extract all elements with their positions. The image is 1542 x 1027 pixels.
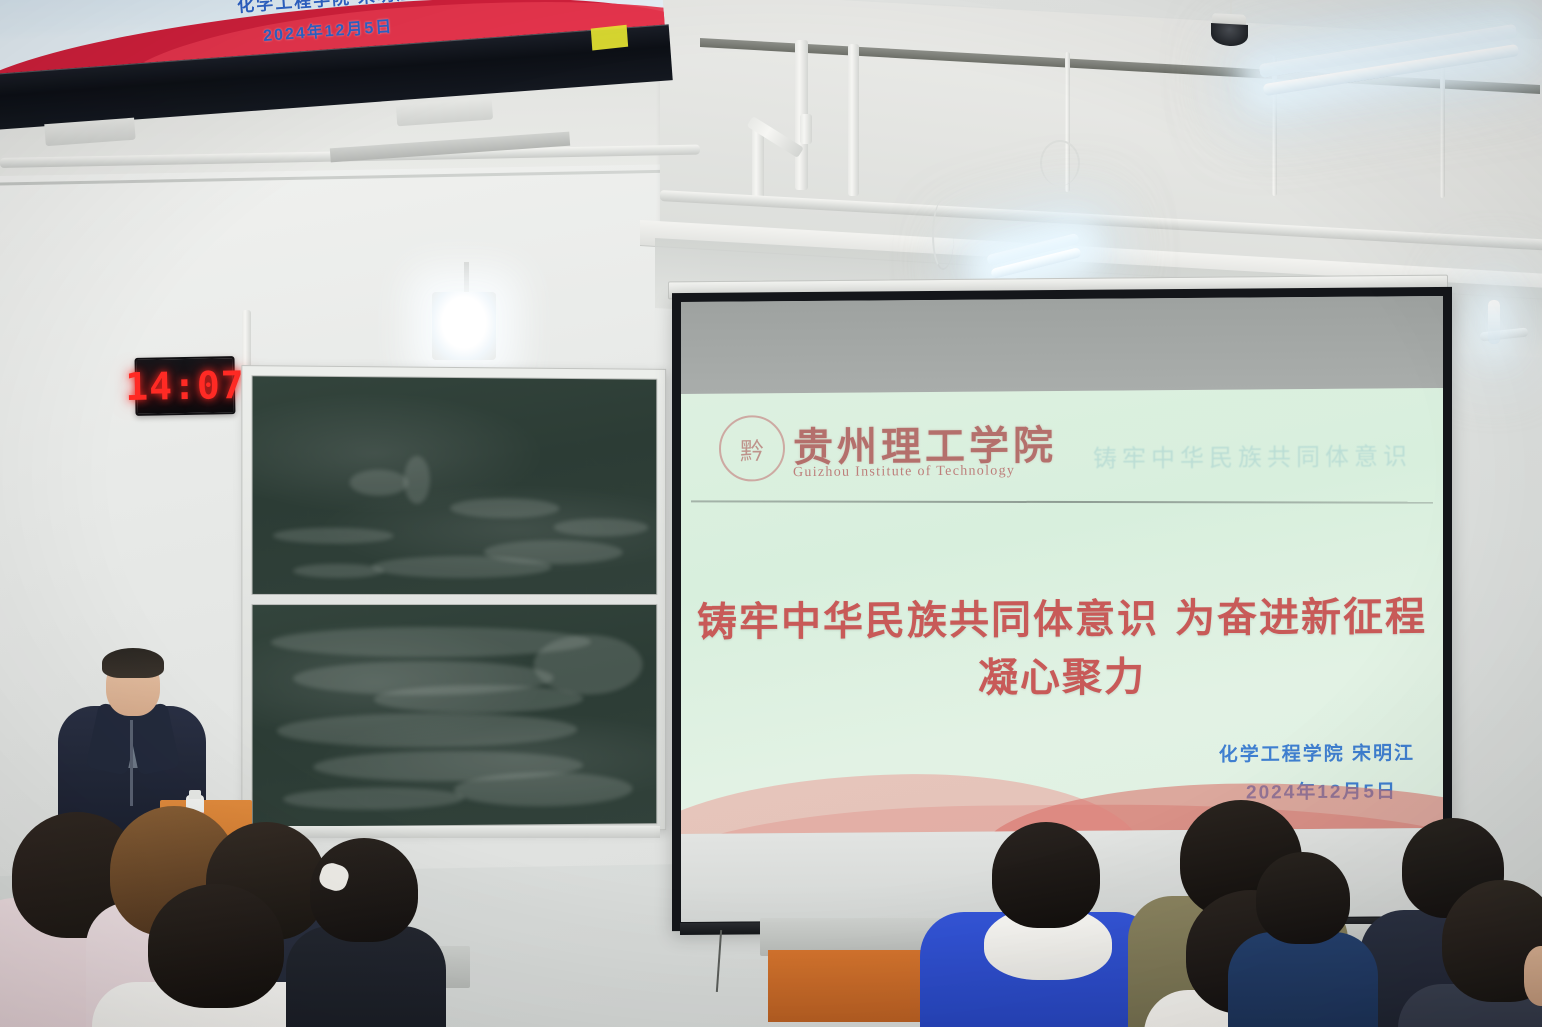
ceiling-pipe-vertical-b	[848, 44, 859, 196]
hanging-wire-b	[932, 200, 954, 270]
slide-divider-rule	[691, 500, 1433, 503]
classroom-scene: 化学工程学院 宋明江 2024年12月5日 14:07	[0, 0, 1542, 1027]
slide-subtitle-right: 铸牢中华民族共同体意识	[1093, 436, 1412, 474]
student-navy-hair	[1256, 852, 1350, 944]
student-blue-hoodie-hair	[992, 822, 1100, 928]
student-ponytail-hair	[310, 838, 418, 942]
presentation-slide: 黔 贵州理工学院 Guizhou Institute of Technology…	[681, 388, 1443, 834]
student-far-right-face	[1524, 946, 1542, 1006]
university-name-en: Guizhou Institute of Technology	[793, 463, 1015, 481]
student-white-hoodie-hair	[148, 884, 284, 1008]
blackboard-panel-lower	[252, 604, 658, 828]
clock-time: 14:07	[125, 363, 245, 409]
tv-label-sticker	[591, 25, 628, 51]
hanging-wire-a	[1040, 140, 1080, 186]
water-bottle-cap	[189, 790, 201, 799]
presenter-zipper	[130, 720, 133, 806]
screen-unprojected-top	[681, 296, 1443, 394]
wall-light-right	[1488, 300, 1500, 344]
presenter-hair	[102, 648, 164, 678]
digital-wall-clock: 14:07	[135, 356, 236, 416]
slide-byline: 化学工程学院 宋明江	[1219, 738, 1415, 767]
university-seal-icon: 黔	[719, 415, 785, 482]
student-navy-body	[1228, 932, 1378, 1027]
ceiling-pipe-thin-b	[1272, 56, 1277, 196]
slide-title: 铸牢中华民族共同体意识 为奋进新征程凝心聚力	[681, 584, 1443, 706]
hanging-lamp	[432, 292, 496, 360]
ceiling-pipe-thin-c	[1440, 60, 1445, 198]
blackboard-panel-upper	[252, 375, 658, 595]
ceiling-pipe-elbow-b	[800, 114, 812, 144]
seal-glyph: 黔	[740, 431, 764, 466]
ceiling-pipe-drop	[752, 128, 764, 200]
blackboard	[241, 365, 666, 834]
chalk-tray	[248, 826, 660, 838]
